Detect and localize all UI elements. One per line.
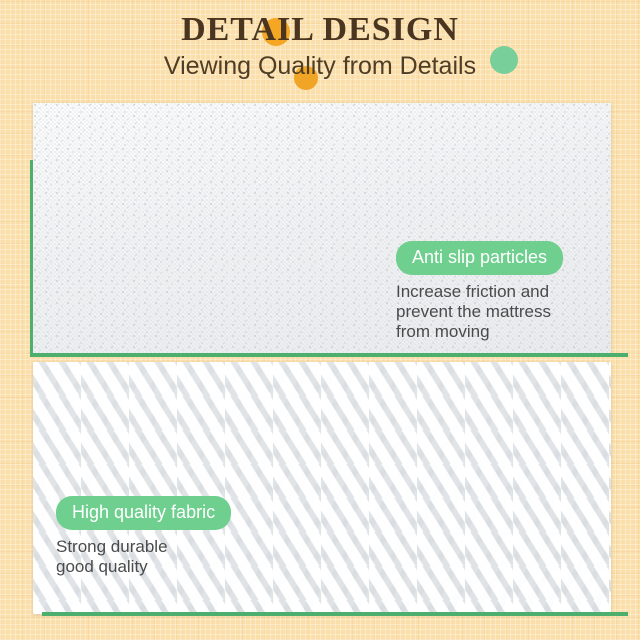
detail-design-infographic: DETAIL DESIGN Viewing Quality from Detai…	[0, 0, 640, 640]
green-accent-line-bottom-panel	[42, 612, 628, 616]
status-badge-anti-slip: Anti slip particles	[396, 241, 563, 275]
description-high-quality: Strong durable good quality	[56, 537, 231, 577]
status-badge-high-quality: High quality fabric	[56, 496, 231, 530]
header: DETAIL DESIGN Viewing Quality from Detai…	[0, 0, 640, 100]
green-accent-line-left	[30, 160, 33, 356]
description-anti-slip: Increase friction and prevent the mattre…	[396, 282, 563, 342]
page-subtitle: Viewing Quality from Details	[0, 51, 640, 81]
callout-anti-slip: Anti slip particles Increase friction an…	[396, 241, 563, 342]
page-title: DETAIL DESIGN	[0, 11, 640, 49]
green-accent-line-top-panel	[30, 353, 628, 357]
callout-high-quality: High quality fabric Strong durable good …	[56, 496, 231, 577]
